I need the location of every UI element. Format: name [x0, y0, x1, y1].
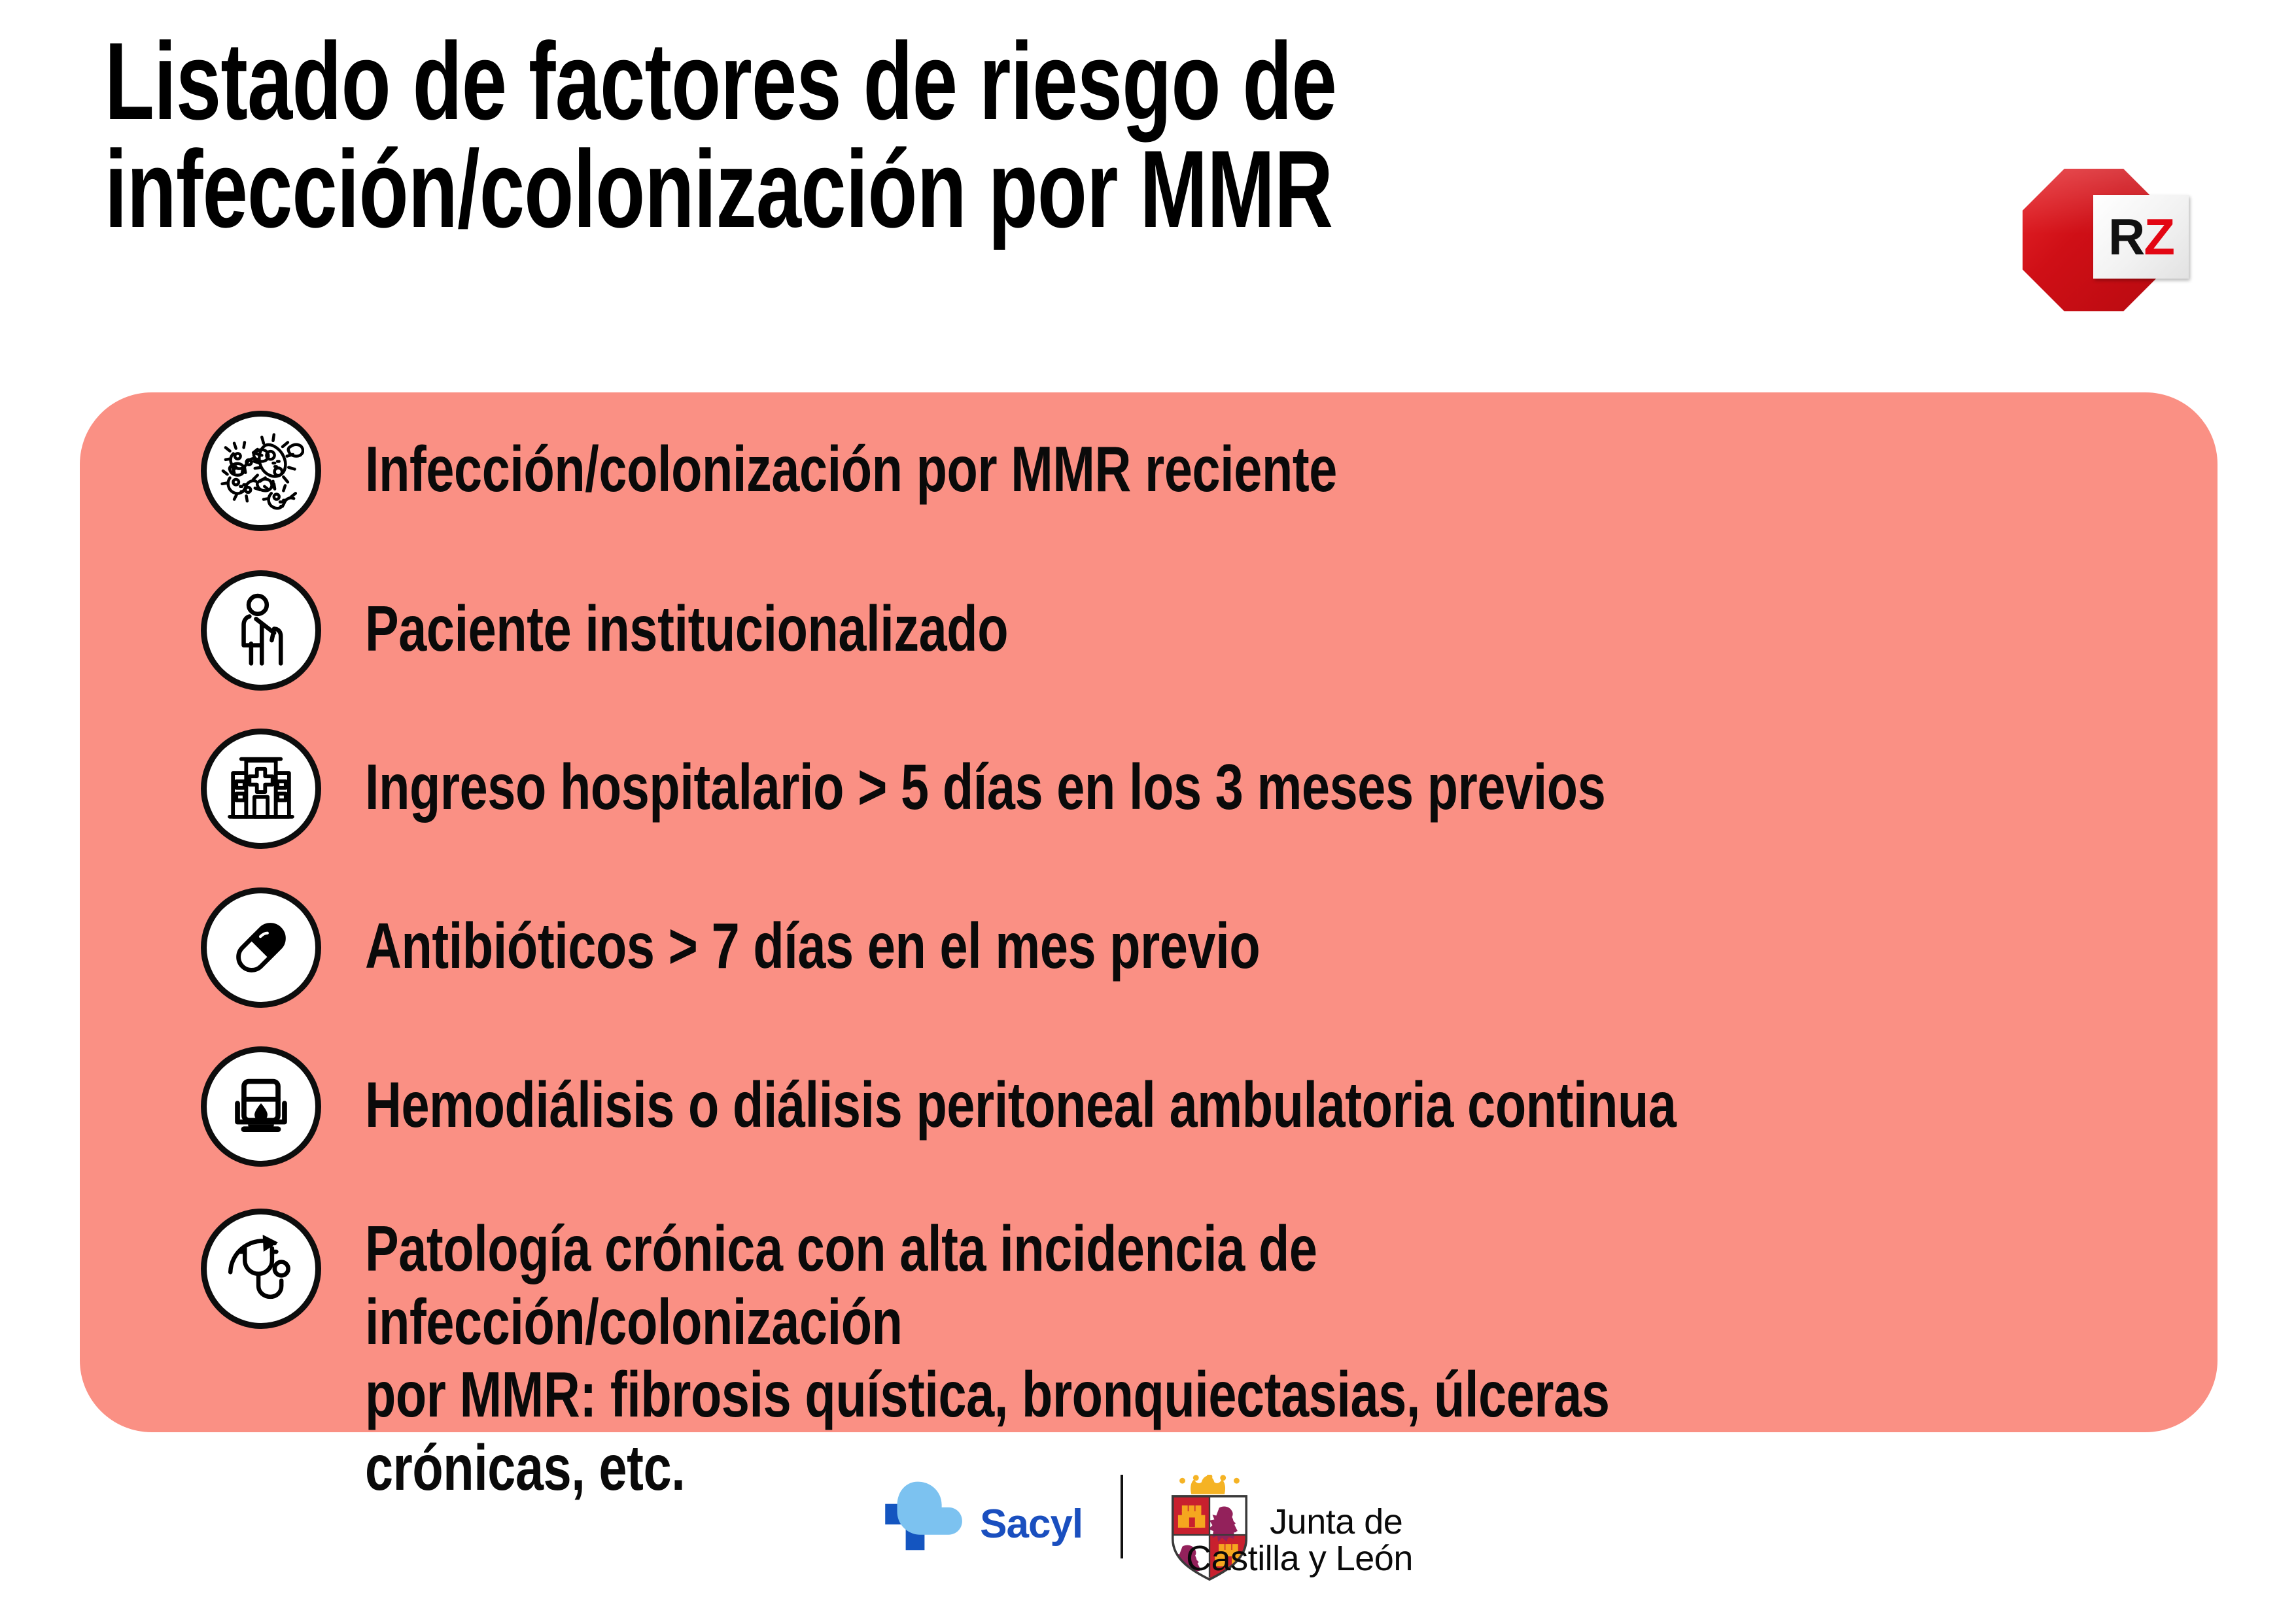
stethoscope-recurring-icon — [201, 1209, 321, 1329]
rz-logo: RZ — [2009, 165, 2212, 315]
page-footer: Sacyl — [0, 1475, 2296, 1606]
risk-factors-list: Infección/colonización por MMR reciente … — [80, 392, 2218, 1432]
list-item: Antibióticos > 7 días en el mes previo — [201, 887, 1498, 1008]
list-item-label: Antibióticos > 7 días en el mes previo — [365, 887, 1260, 983]
jcyl-line-2: Castilla y León — [1186, 1540, 1413, 1577]
sacyl-logo: Sacyl — [883, 1475, 1083, 1569]
rz-letter-r: R — [2108, 208, 2144, 266]
pill-capsule-icon — [201, 887, 321, 1008]
sacyl-mark-icon — [883, 1480, 969, 1569]
dialysis-machine-icon — [201, 1046, 321, 1167]
list-item-label: Hemodiálisis o diálisis peritoneal ambul… — [365, 1046, 1677, 1142]
bacteria-icon — [201, 411, 321, 531]
page-title-line-1: Listado de factores de riesgo de — [105, 27, 1499, 135]
rz-letter-z: Z — [2144, 208, 2174, 266]
footer-divider — [1121, 1475, 1123, 1558]
page-title: Listado de factores de riesgo de infecci… — [105, 27, 1989, 243]
jcyl-line-1: Junta de — [1270, 1504, 1413, 1540]
elderly-person-cane-icon — [201, 570, 321, 691]
list-item-label: Ingreso hospitalario > 5 días en los 3 m… — [365, 729, 1605, 824]
list-item: Ingreso hospitalario > 5 días en los 3 m… — [201, 729, 1935, 849]
list-item: Infección/colonización por MMR reciente — [201, 411, 1595, 531]
list-item-label: Patología crónica con alta incidencia de… — [365, 1209, 1828, 1505]
list-item-label: Infección/colonización por MMR reciente — [365, 411, 1337, 506]
risk-factors-panel: Infección/colonización por MMR reciente … — [80, 392, 2218, 1432]
page-header: Listado de factores de riesgo de infecci… — [0, 0, 2296, 353]
sacyl-wordmark: Sacyl — [980, 1504, 1083, 1545]
list-item: Patología crónica con alta incidencia de… — [201, 1209, 2218, 1505]
rz-badge: RZ — [2093, 195, 2189, 279]
list-item-label: Paciente institucionalizado — [365, 570, 1008, 666]
castilla-leon-coat-of-arms-icon — [1161, 1475, 1258, 1599]
jcyl-logo: Junta de Castilla y León — [1161, 1475, 1413, 1599]
list-item: Paciente institucionalizado — [201, 570, 1179, 691]
hospital-building-icon — [201, 729, 321, 849]
page-title-line-2: infección/colonización por MMR — [105, 135, 1499, 243]
list-item: Hemodiálisis o diálisis peritoneal ambul… — [201, 1046, 2025, 1167]
